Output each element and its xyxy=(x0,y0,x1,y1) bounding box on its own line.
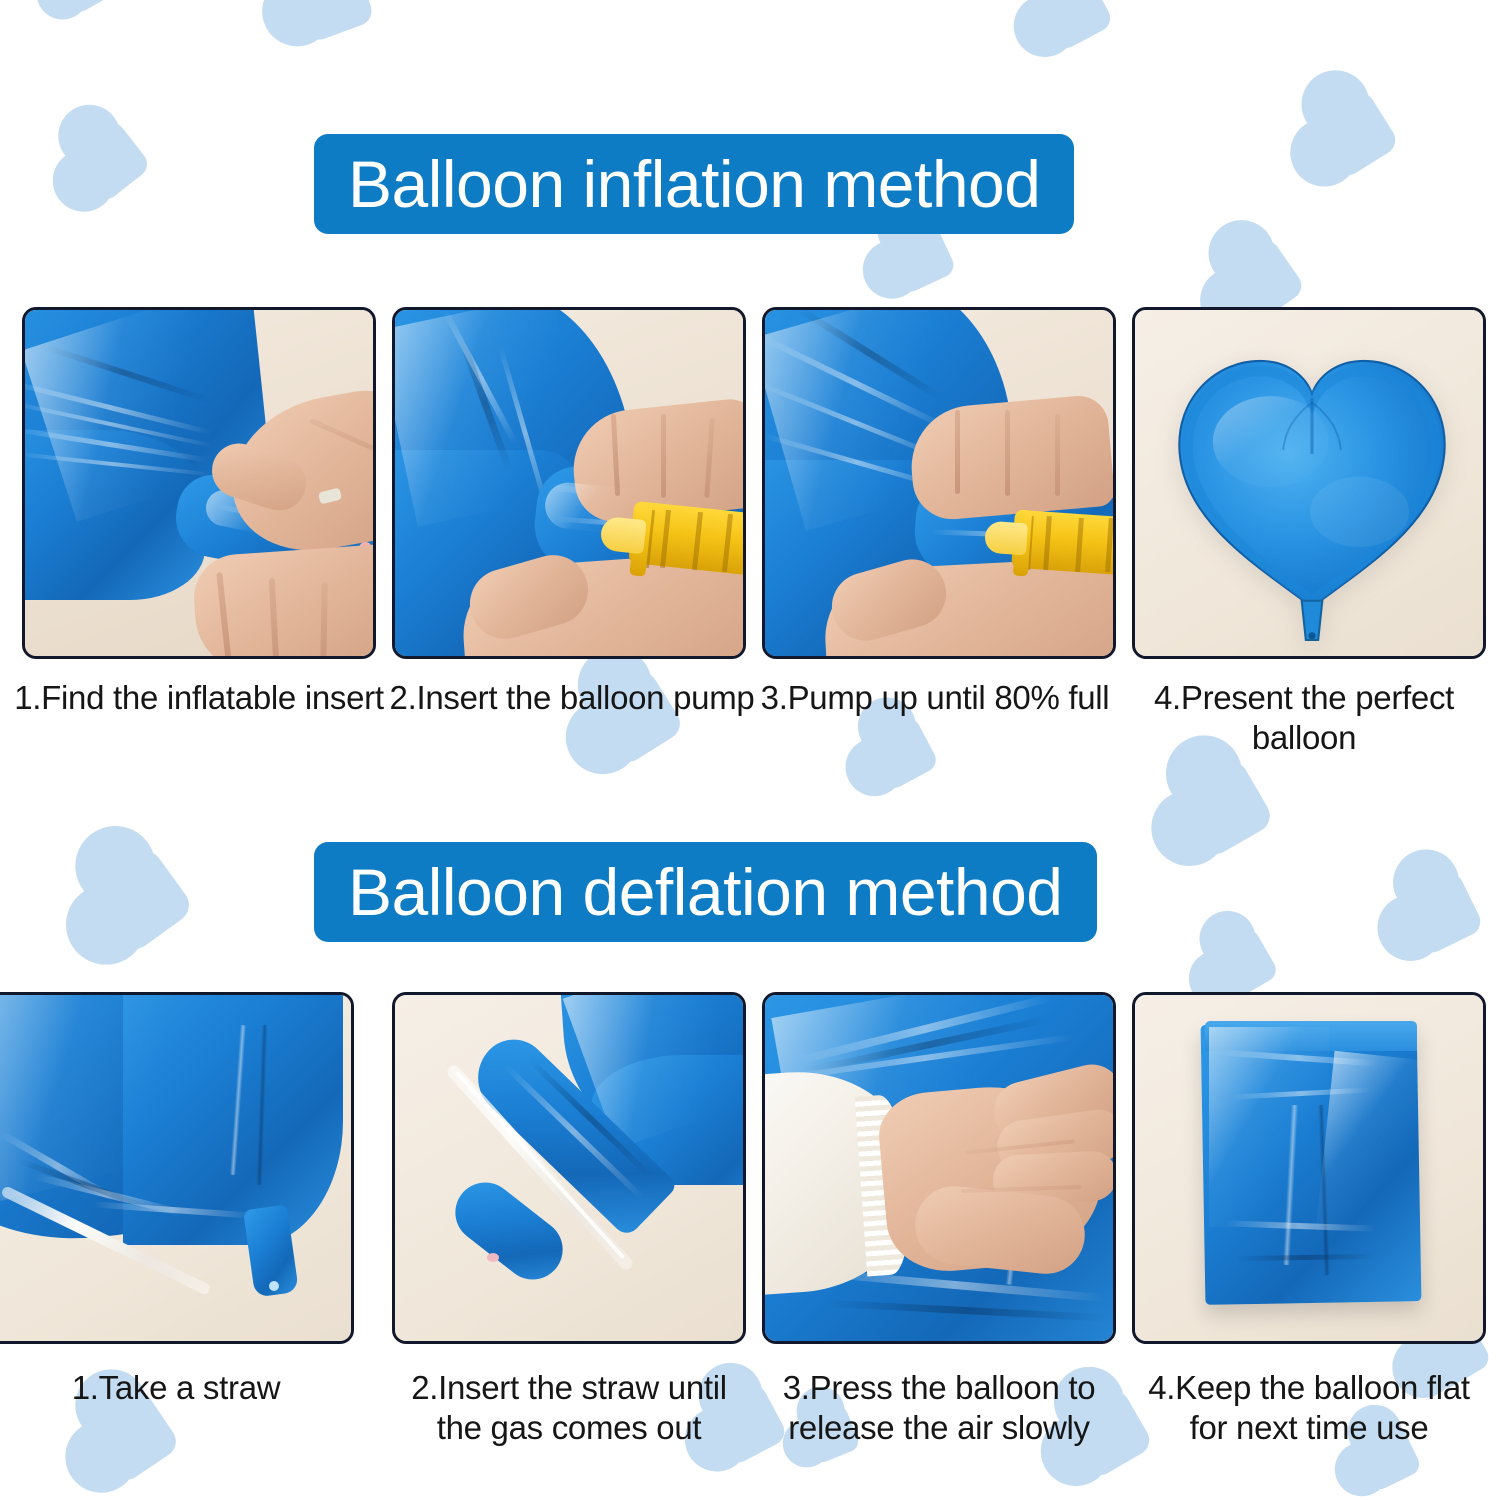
decor-heart-icon xyxy=(50,0,121,16)
decor-heart-icon xyxy=(1172,756,1276,860)
photo-hand-pressing-balloon xyxy=(765,995,1113,1341)
inflation-section-banner: Balloon inflation method xyxy=(314,134,1074,234)
inflation-step-2-caption: 2.Insert the balloon pump xyxy=(386,678,758,718)
inflation-step-3-caption: 3.Pump up until 80% full xyxy=(760,678,1110,718)
decor-heart-icon xyxy=(65,117,152,204)
inflation-section-title: Balloon inflation method xyxy=(314,151,1074,217)
decor-heart-icon xyxy=(1307,87,1401,181)
deflation-step-4-caption: 4.Keep the balloon flat for next time us… xyxy=(1132,1368,1486,1449)
deflation-section-title: Balloon deflation method xyxy=(314,859,1097,925)
decor-heart-icon xyxy=(286,0,376,44)
inflation-step-4-caption: 4.Present the perfect balloon xyxy=(1110,678,1498,759)
photo-balloon-with-straw xyxy=(0,995,351,1341)
deflation-step-1-caption: 1.Take a straw xyxy=(0,1368,376,1408)
decor-heart-icon xyxy=(1397,869,1485,957)
balloon-foil-body xyxy=(123,995,343,1245)
decor-heart-icon xyxy=(1031,0,1115,53)
valve-dot xyxy=(269,1281,279,1291)
folded-balloon-top-fold xyxy=(1205,1021,1417,1051)
deflation-step-4-photo xyxy=(1132,992,1486,1344)
deflation-step-3-photo xyxy=(762,992,1116,1344)
pump-tip xyxy=(984,521,1028,556)
deflation-step-2-photo xyxy=(392,992,746,1344)
heart-balloon-graphic xyxy=(1157,320,1467,650)
infographic-root: Balloon inflation method xyxy=(0,0,1500,1500)
inflation-step-1-photo xyxy=(22,307,376,659)
photo-straw-inserted-in-valve xyxy=(395,995,743,1341)
photo-hand-holding-balloon-valve xyxy=(25,310,373,656)
inflation-step-3-photo xyxy=(762,307,1116,659)
folded-balloon xyxy=(1201,1021,1422,1305)
inflation-step-1-caption: 1.Find the inflatable insert xyxy=(6,678,392,718)
photo-folded-flat-balloon xyxy=(1135,995,1483,1341)
decor-heart-icon xyxy=(862,714,940,792)
inflation-step-2-photo xyxy=(392,307,746,659)
photo-pumping-balloon xyxy=(765,310,1113,656)
decor-heart-icon xyxy=(1204,926,1280,1002)
deflation-section-banner: Balloon deflation method xyxy=(314,842,1097,942)
decor-heart-icon xyxy=(84,844,196,956)
deflation-step-2-caption: 2.Insert the straw until the gas comes o… xyxy=(392,1368,746,1449)
photo-pump-inserted xyxy=(395,310,743,656)
inflation-step-4-photo xyxy=(1132,307,1486,659)
valve-dot xyxy=(487,1253,499,1262)
photo-inflated-heart-balloon xyxy=(1135,310,1483,656)
deflation-step-3-caption: 3.Press the balloon to release the air s… xyxy=(762,1368,1116,1449)
deflation-step-1-photo xyxy=(0,992,354,1344)
